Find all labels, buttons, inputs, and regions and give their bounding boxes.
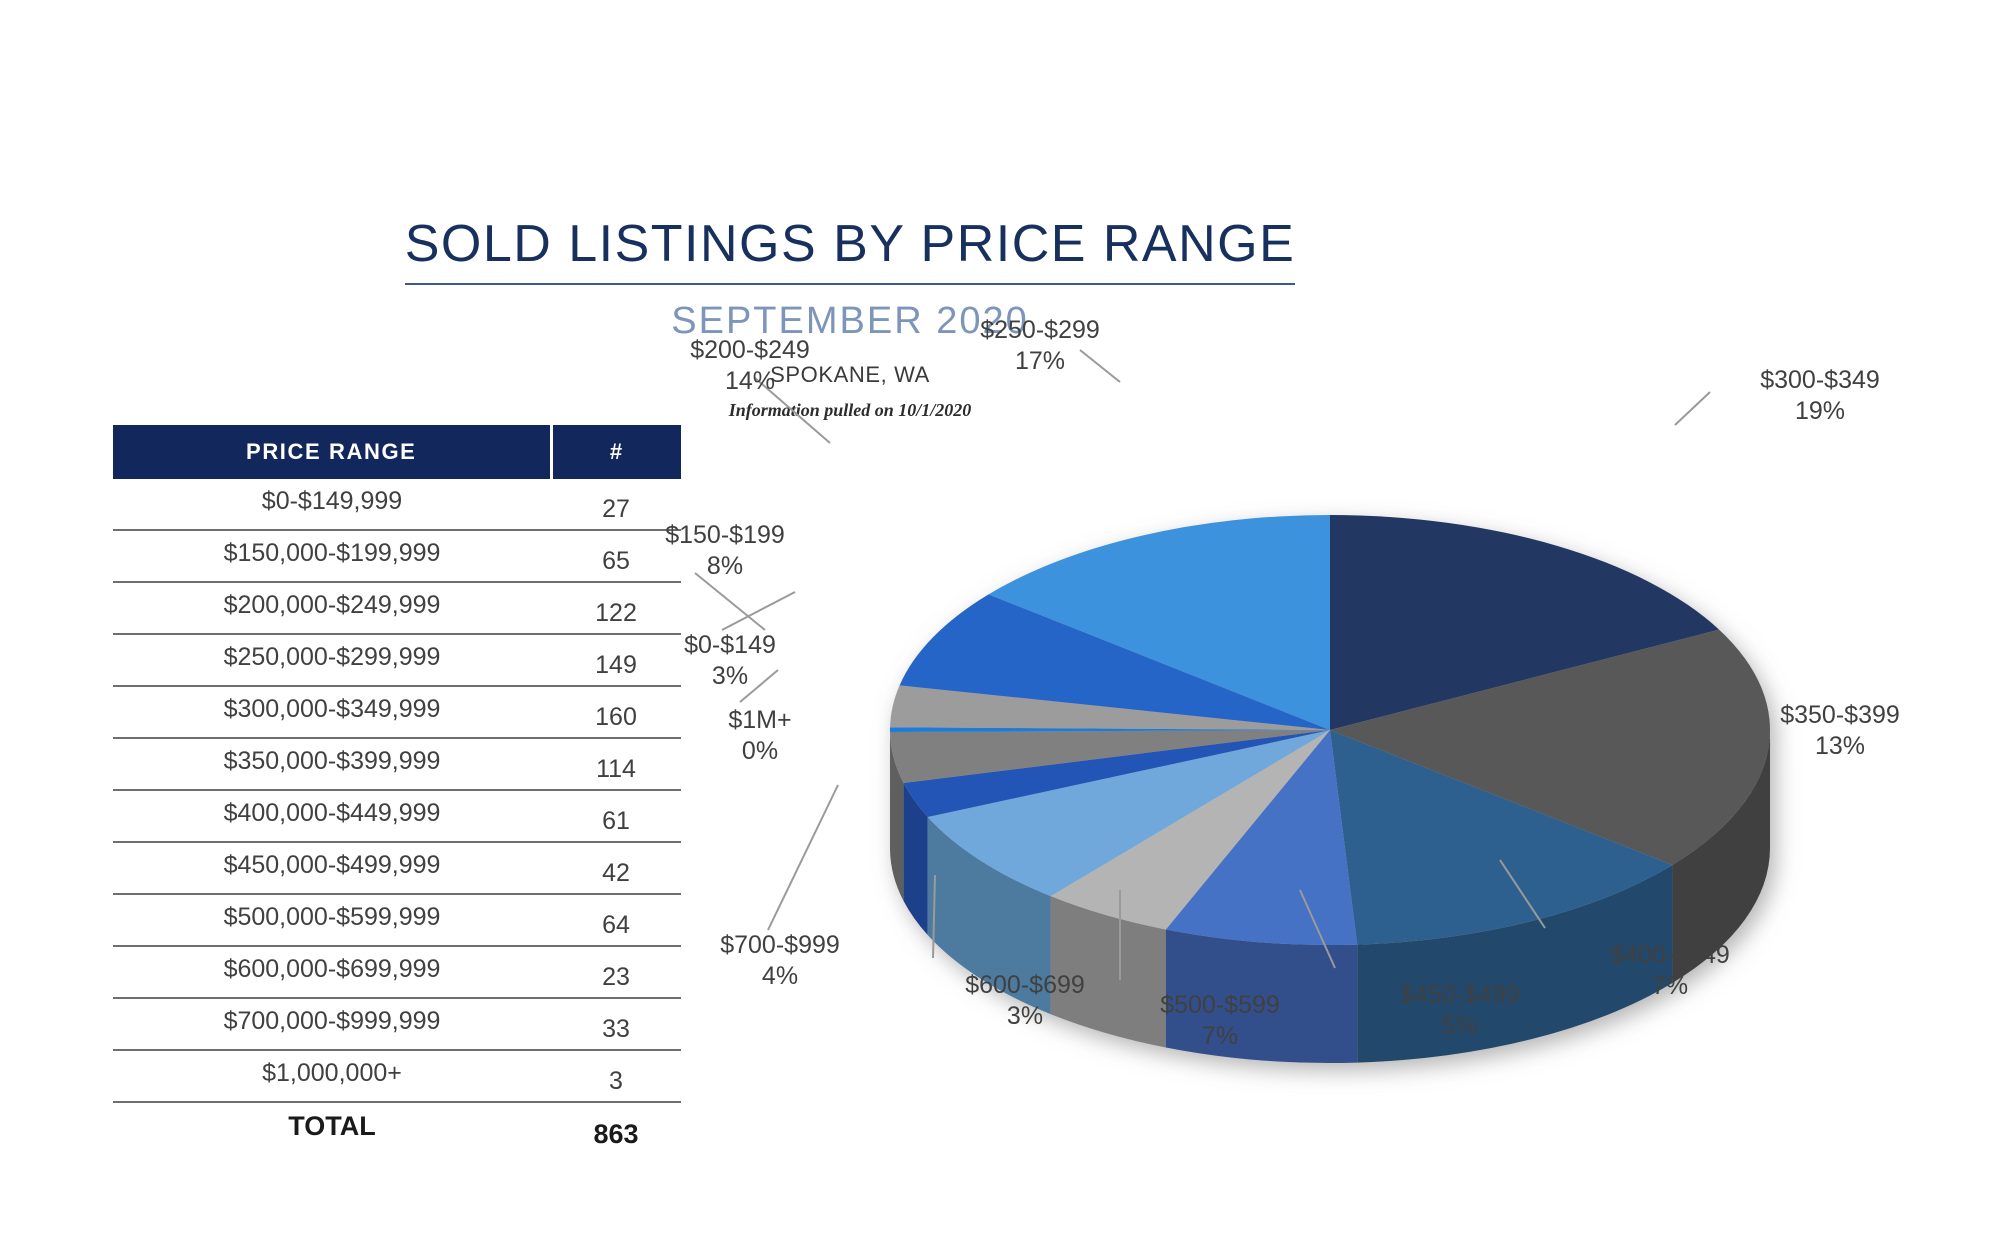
pie-leader-line: [1675, 392, 1710, 425]
cell-price-range: $600,000-$699,999: [113, 946, 551, 998]
cell-count: 61: [551, 790, 681, 842]
cell-price-range: $400,000-$449,999: [113, 790, 551, 842]
cell-price-range: $250,000-$299,999: [113, 634, 551, 686]
table-header-row: PRICE RANGE #: [113, 425, 681, 479]
table-row: $1,000,000+3: [113, 1050, 681, 1102]
cell-count: 3: [551, 1050, 681, 1102]
pie-chart-svg: [690, 330, 2000, 1230]
table-row: $400,000-$449,99961: [113, 790, 681, 842]
cell-price-range: $0-$149,999: [113, 479, 551, 530]
pie-label-7: $700-$9994%: [680, 930, 880, 991]
table-row: $450,000-$499,99942: [113, 842, 681, 894]
table-row: $200,000-$249,999122: [113, 582, 681, 634]
pie-label-name: $150-$199: [665, 521, 785, 549]
table-row: $300,000-$349,999160: [113, 686, 681, 738]
pie-label-name: $500-$599: [1160, 991, 1280, 1019]
table-total-row: TOTAL863: [113, 1102, 681, 1155]
pie-label-percent: 4%: [680, 961, 880, 992]
table-row: $500,000-$599,99964: [113, 894, 681, 946]
pie-label-percent: 7%: [1570, 971, 1770, 1002]
cell-count: 33: [551, 998, 681, 1050]
cell-count: 23: [551, 946, 681, 998]
pie-label-10: $150-$1998%: [625, 520, 825, 581]
cell-count: 64: [551, 894, 681, 946]
pie-label-name: $450-$499: [1400, 981, 1520, 1009]
pie-label-percent: 5%: [1360, 1011, 1560, 1042]
table-row: $250,000-$299,999149: [113, 634, 681, 686]
column-header-price-range: PRICE RANGE: [113, 425, 551, 479]
pie-label-name: $350-$399: [1780, 701, 1900, 729]
pie-label-name: $700-$999: [720, 931, 840, 959]
cell-price-range: $1,000,000+: [113, 1050, 551, 1102]
pie-label-percent: 17%: [940, 346, 1140, 377]
cell-price-range: $450,000-$499,999: [113, 842, 551, 894]
cell-price-range: $200,000-$249,999: [113, 582, 551, 634]
pie-label-name: $1M+: [728, 706, 791, 734]
page-title-container: SOLD LISTINGS BY PRICE RANGE: [400, 215, 1300, 285]
cell-price-range: $150,000-$199,999: [113, 530, 551, 582]
table-row: $0-$149,99927: [113, 479, 681, 530]
cell-count: 42: [551, 842, 681, 894]
pie-label-percent: 0%: [660, 736, 860, 767]
pie-leader-line: [695, 573, 765, 630]
pie-label-name: $200-$249: [690, 336, 810, 364]
pie-label-1: $300-$34919%: [1720, 365, 1920, 426]
cell-price-range: $350,000-$399,999: [113, 738, 551, 790]
pie-label-2: $350-$39913%: [1740, 700, 1940, 761]
pie-label-percent: 13%: [1740, 731, 1940, 762]
table-row: $600,000-$699,99923: [113, 946, 681, 998]
pie-label-0: $250-$29917%: [940, 315, 1140, 376]
pie-chart: $250-$29917%$300-$34919%$350-$39913%$400…: [690, 330, 2000, 1230]
cell-count: 122: [551, 582, 681, 634]
pie-leader-line: [768, 785, 838, 930]
column-header-count: #: [551, 425, 681, 479]
pie-label-percent: 19%: [1720, 396, 1920, 427]
cell-total-label: TOTAL: [113, 1102, 551, 1155]
price-range-table: PRICE RANGE # $0-$149,99927$150,000-$199…: [113, 425, 681, 1155]
pie-label-9: $0-$1493%: [630, 630, 830, 691]
pie-label-percent: 3%: [630, 661, 830, 692]
cell-price-range: $500,000-$599,999: [113, 894, 551, 946]
cell-total-count: 863: [551, 1102, 681, 1155]
table-row: $700,000-$999,99933: [113, 998, 681, 1050]
pie-label-name: $300-$349: [1760, 366, 1880, 394]
pie-label-3: $400-$4497%: [1570, 940, 1770, 1001]
pie-label-percent: 14%: [650, 366, 850, 397]
pie-label-name: $0-$149: [684, 631, 776, 659]
pie-label-4: $450-$4995%: [1360, 980, 1560, 1041]
pie-label-6: $600-$6993%: [925, 970, 1125, 1031]
pie-label-percent: 3%: [925, 1001, 1125, 1032]
page-title: SOLD LISTINGS BY PRICE RANGE: [405, 215, 1296, 285]
cell-price-range: $700,000-$999,999: [113, 998, 551, 1050]
table-row: $150,000-$199,99965: [113, 530, 681, 582]
pie-label-8: $1M+0%: [660, 705, 860, 766]
pie-label-name: $600-$699: [965, 971, 1085, 999]
pie-label-percent: 8%: [625, 551, 825, 582]
pie-label-name: $400-$449: [1610, 941, 1730, 969]
table-row: $350,000-$399,999114: [113, 738, 681, 790]
pie-label-5: $500-$5997%: [1120, 990, 1320, 1051]
cell-price-range: $300,000-$349,999: [113, 686, 551, 738]
pie-label-11: $200-$24914%: [650, 335, 850, 396]
pie-label-name: $250-$299: [980, 316, 1100, 344]
pie-label-percent: 7%: [1120, 1021, 1320, 1052]
